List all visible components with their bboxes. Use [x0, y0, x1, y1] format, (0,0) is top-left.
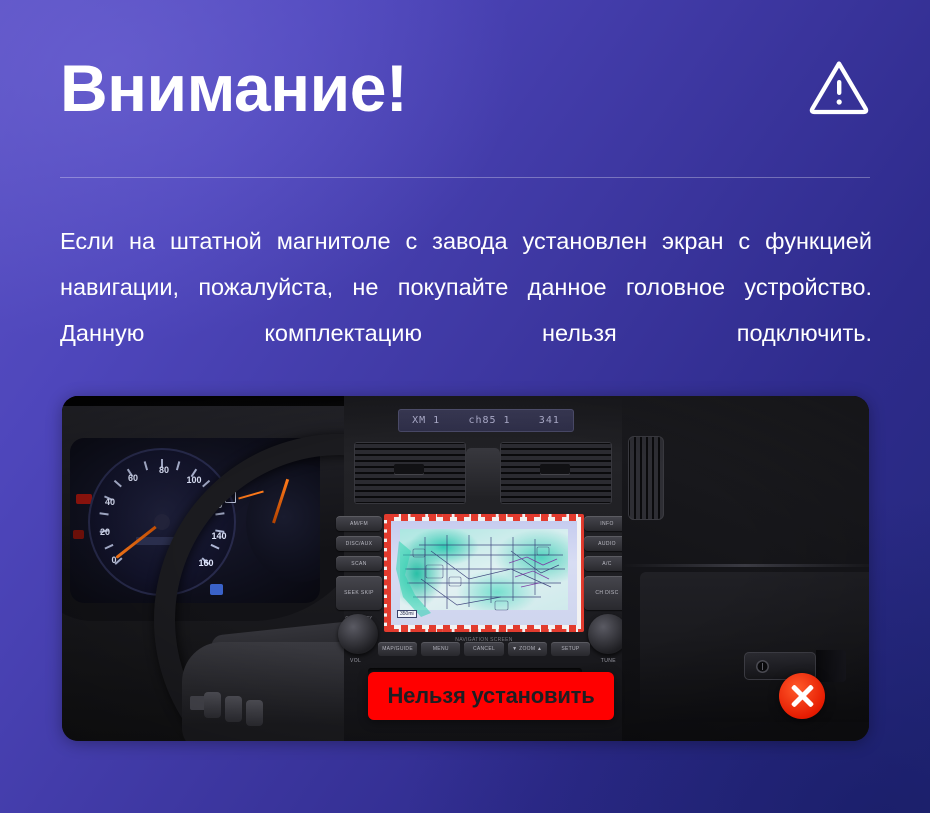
air-vent-left[interactable] [354, 442, 466, 504]
center-air-vents [350, 442, 616, 504]
speedo-number: 80 [159, 465, 169, 475]
navigation-screen[interactable]: 350mi [391, 521, 577, 625]
radio-preset-text: 341 [539, 415, 560, 426]
label-volume: VOL [350, 658, 361, 664]
dashboard-seam [622, 564, 869, 567]
attention-banner: Внимание! Если на штатной магнитоле с за… [0, 0, 930, 813]
banner-header: Внимание! [60, 46, 870, 146]
steering-wheel-button[interactable] [246, 700, 263, 726]
glovebox[interactable] [640, 572, 869, 722]
volume-knob[interactable] [338, 614, 378, 654]
cannot-install-badge: Нельзя установить [368, 672, 614, 720]
cannot-install-label: Нельзя установить [387, 683, 594, 709]
button-setup[interactable]: SETUP [551, 642, 590, 656]
map-road-network [391, 521, 577, 625]
not-allowed-x-icon [779, 673, 825, 719]
page-title: Внимание! [60, 46, 407, 130]
air-vent-center-divider [466, 448, 500, 498]
radio-channel-text: ch85 1 [468, 415, 510, 426]
warning-light-secondary-icon [73, 530, 84, 539]
steering-wheel-button[interactable] [204, 692, 221, 718]
warning-triangle-icon [808, 58, 870, 116]
button-disc-aux[interactable]: DISC/AUX [336, 536, 382, 551]
button-zoom[interactable]: ▼ ZOOM ▲ [508, 642, 547, 656]
button-scan[interactable]: SCAN [336, 556, 382, 571]
button-am-fm[interactable]: AM/FM [336, 516, 382, 531]
label-tune: TUNE [601, 658, 616, 664]
radio-display: XM 1 ch85 1 341 [398, 409, 574, 432]
navigation-screen-highlight: 350mi NAVIGATION SCREEN [384, 514, 584, 632]
speedo-number: 100 [186, 475, 201, 485]
air-vent-passenger[interactable] [628, 436, 664, 520]
header-divider [60, 177, 870, 178]
button-map-guide[interactable]: MAP/GUIDE [378, 642, 417, 656]
console-left-buttons: AM/FM DISC/AUX SCAN SEEK SKIP CATEGORY [336, 516, 382, 620]
air-vent-right[interactable] [500, 442, 612, 504]
radio-source-text: XM 1 [412, 415, 440, 426]
button-seek-skip[interactable]: SEEK SKIP [336, 576, 382, 610]
passenger-dashboard [622, 396, 869, 741]
warning-body-text: Если на штатной магнитоле с завода устан… [60, 218, 872, 356]
glovebox-recess [816, 650, 846, 682]
map-scale-label: 350mi [397, 610, 417, 618]
car-dashboard-photo: 0 20 40 60 80 100 120 140 160 [62, 396, 869, 741]
console-bottom-buttons: MAP/GUIDE MENU CANCEL ▼ ZOOM ▲ SETUP [378, 642, 590, 656]
button-menu[interactable]: MENU [421, 642, 460, 656]
speedo-number: 20 [100, 527, 110, 537]
lock-icon [756, 660, 769, 673]
speedo-number: 60 [128, 473, 138, 483]
button-cancel[interactable]: CANCEL [464, 642, 503, 656]
speedometer-hub [154, 514, 170, 530]
speedo-number: 40 [105, 497, 115, 507]
steering-wheel-button[interactable] [225, 696, 242, 722]
